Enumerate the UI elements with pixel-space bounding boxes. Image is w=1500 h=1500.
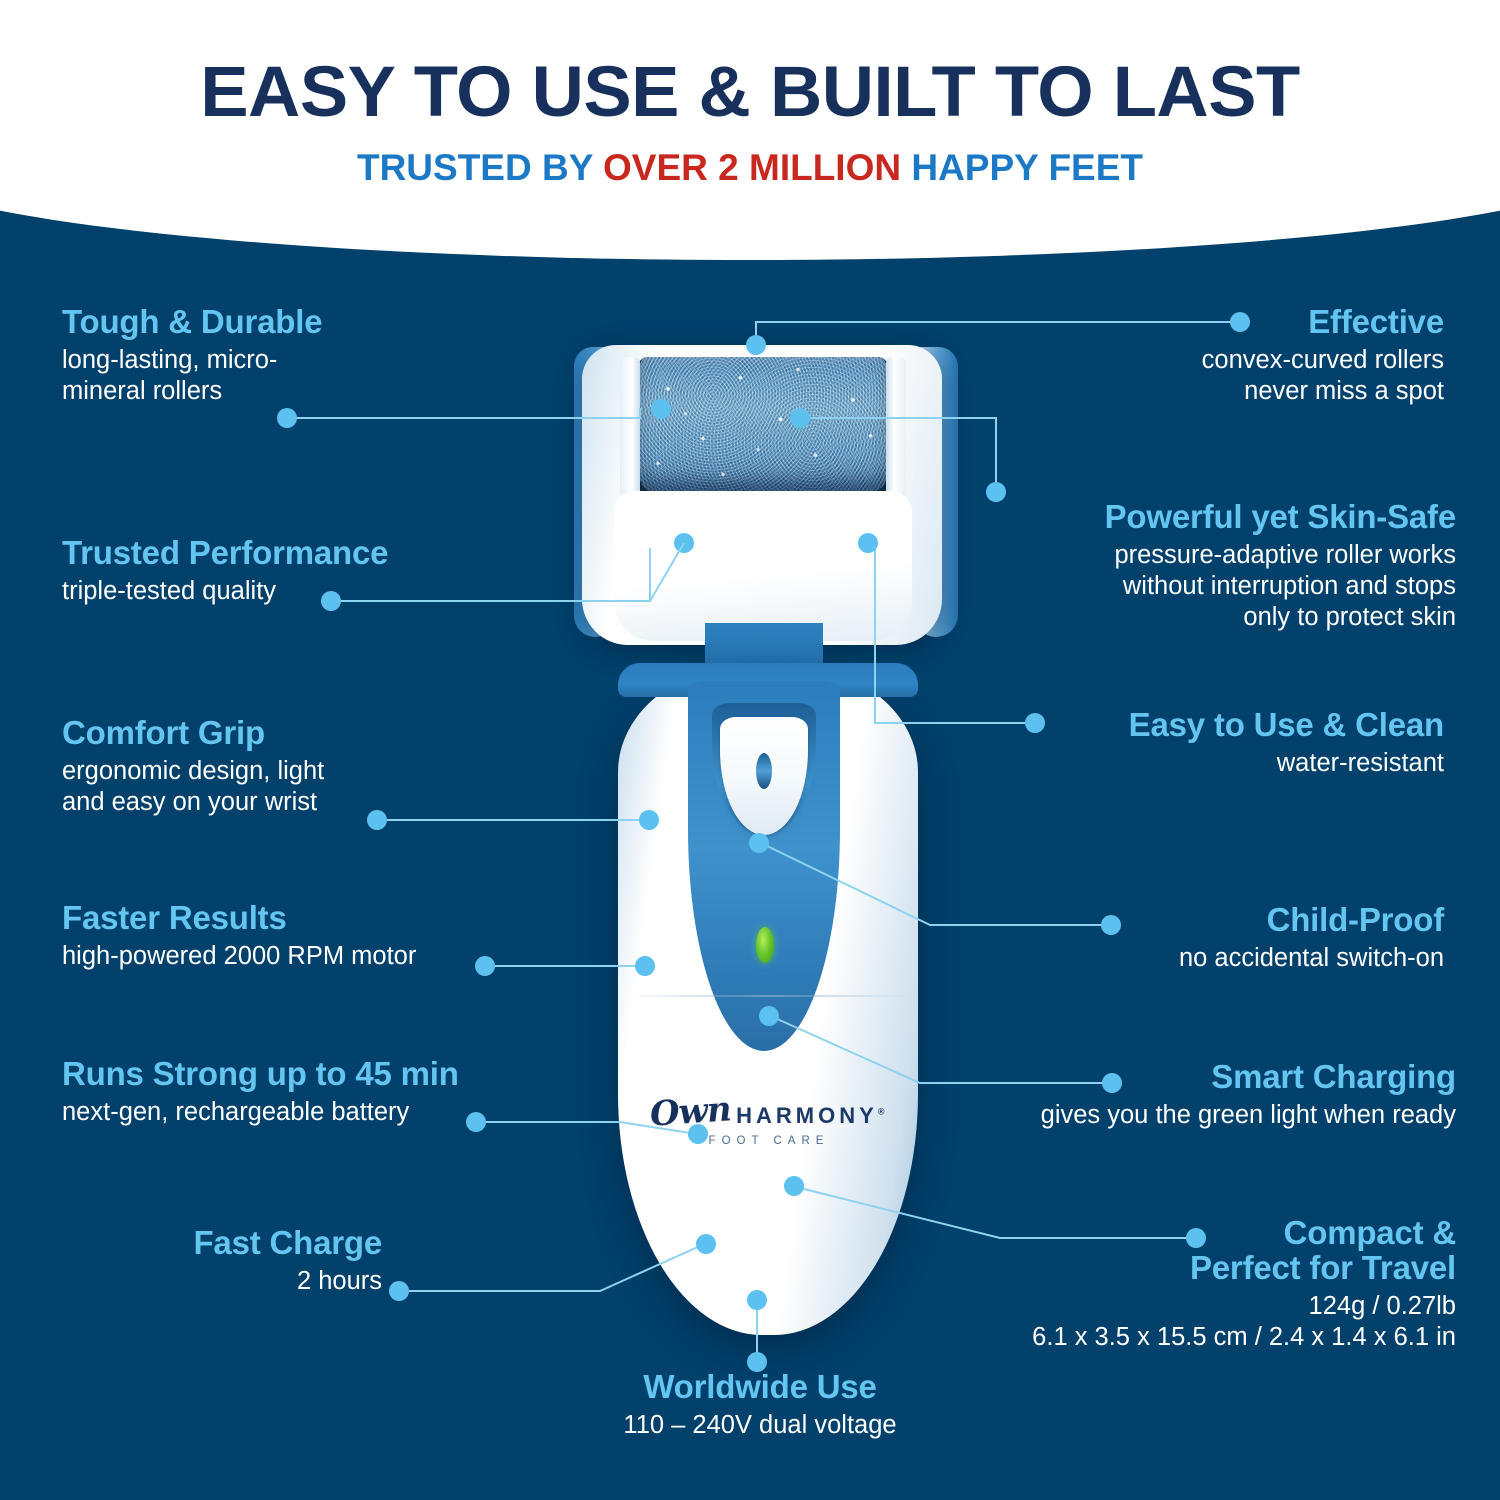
- callout-comfort-grip-desc: ergonomic design, light and easy on your…: [62, 756, 324, 818]
- dot-tough-durable-label: [277, 408, 297, 428]
- callout-tough-durable-desc: long-lasting, micro- mineral rollers: [62, 345, 322, 407]
- logo-script-text: Own: [648, 1092, 731, 1132]
- device-abrasive-roller: [638, 357, 888, 491]
- callout-faster-results-title: Faster Results: [62, 901, 416, 936]
- logo-tagline: FOOT CARE: [644, 1136, 894, 1148]
- callout-runs-strong-title: Runs Strong up to 45 min: [62, 1057, 459, 1092]
- callout-effective-title: Effective: [984, 305, 1444, 340]
- callout-runs-strong: Runs Strong up to 45 min next-gen, recha…: [62, 1057, 459, 1128]
- page-title: EASY TO USE & BUILT TO LAST: [0, 52, 1500, 133]
- charging-led-indicator: [756, 927, 774, 963]
- brand-logo: Own HARMONY® FOOT CARE: [644, 1095, 894, 1148]
- callout-fast-charge-desc: 2 hours: [22, 1266, 382, 1297]
- callout-worldwide-use-desc: 110 – 240V dual voltage: [450, 1410, 1070, 1441]
- callout-faster-results: Faster Results high-powered 2000 RPM mot…: [62, 901, 416, 972]
- callout-faster-results-desc: high-powered 2000 RPM motor: [62, 941, 416, 972]
- subtitle-part-1: TRUSTED BY: [357, 147, 603, 188]
- callout-worldwide-use-title: Worldwide Use: [450, 1370, 1070, 1405]
- callout-easy-use-clean-title: Easy to Use & Clean: [1004, 708, 1444, 743]
- device-head-front-panel: [614, 491, 912, 641]
- registered-trademark-icon: ®: [878, 1107, 889, 1117]
- callout-smart-charging: Smart Charging gives you the green light…: [956, 1060, 1456, 1131]
- logo-wordmark-text: HARMONY: [736, 1103, 878, 1128]
- callout-trusted-performance: Trusted Performance triple-tested qualit…: [62, 536, 388, 607]
- callout-compact-travel: Compact & Perfect for Travel 124g / 0.27…: [816, 1216, 1456, 1353]
- callout-powerful-skin-safe-desc: pressure-adaptive roller works without i…: [976, 540, 1456, 633]
- device-roller-cap-right: [886, 357, 906, 499]
- callout-runs-strong-desc: next-gen, rechargeable battery: [62, 1097, 459, 1128]
- logo-wordmark: HARMONY®: [736, 1105, 888, 1129]
- dot-fast-charge-label: [389, 1281, 409, 1301]
- dot-powerful-skin-safe-label: [986, 482, 1006, 502]
- callout-child-proof-title: Child-Proof: [1004, 903, 1444, 938]
- callout-child-proof-desc: no accidental switch-on: [1004, 943, 1444, 974]
- callout-fast-charge-title: Fast Charge: [22, 1226, 382, 1261]
- callout-easy-use-clean-desc: water-resistant: [1004, 748, 1444, 779]
- header-text-block: EASY TO USE & BUILT TO LAST TRUSTED BY O…: [0, 0, 1500, 189]
- callout-tough-durable-title: Tough & Durable: [62, 305, 322, 340]
- dot-faster-results-label: [475, 956, 495, 976]
- callout-powerful-skin-safe-title: Powerful yet Skin-Safe: [976, 500, 1456, 535]
- subtitle-highlight: OVER 2 MILLION: [603, 147, 901, 188]
- device-body-seam: [626, 995, 912, 997]
- callout-effective-desc: convex-curved rollers never miss a spot: [984, 345, 1444, 407]
- device-roller-slot: [638, 357, 888, 497]
- callout-trusted-performance-title: Trusted Performance: [62, 536, 388, 571]
- callout-child-proof: Child-Proof no accidental switch-on: [1004, 903, 1444, 974]
- callout-smart-charging-desc: gives you the green light when ready: [956, 1100, 1456, 1131]
- page-subtitle: TRUSTED BY OVER 2 MILLION HAPPY FEET: [0, 147, 1500, 189]
- device-roller-cap-left: [620, 357, 640, 499]
- callout-tough-durable: Tough & Durable long-lasting, micro- min…: [62, 305, 322, 407]
- callout-effective: Effective convex-curved rollers never mi…: [984, 305, 1444, 407]
- callout-easy-use-clean: Easy to Use & Clean water-resistant: [1004, 708, 1444, 779]
- subtitle-part-2: HAPPY FEET: [901, 147, 1143, 188]
- callout-trusted-performance-desc: triple-tested quality: [62, 576, 388, 607]
- power-button-slot-icon: [756, 753, 772, 789]
- callout-worldwide-use: Worldwide Use 110 – 240V dual voltage: [450, 1370, 1070, 1441]
- callout-powerful-skin-safe: Powerful yet Skin-Safe pressure-adaptive…: [976, 500, 1456, 633]
- callout-comfort-grip: Comfort Grip ergonomic design, light and…: [62, 716, 324, 818]
- callout-smart-charging-title: Smart Charging: [956, 1060, 1456, 1095]
- callout-compact-travel-desc: 124g / 0.27lb 6.1 x 3.5 x 15.5 cm / 2.4 …: [816, 1291, 1456, 1353]
- product-image-foot-file: Own HARMONY® FOOT CARE: [560, 335, 970, 1345]
- callout-comfort-grip-title: Comfort Grip: [62, 716, 324, 751]
- dot-comfort-grip-label: [367, 810, 387, 830]
- callout-compact-travel-title: Compact & Perfect for Travel: [816, 1216, 1456, 1286]
- dot-runs-strong-label: [466, 1112, 486, 1132]
- callout-fast-charge: Fast Charge 2 hours: [22, 1226, 382, 1297]
